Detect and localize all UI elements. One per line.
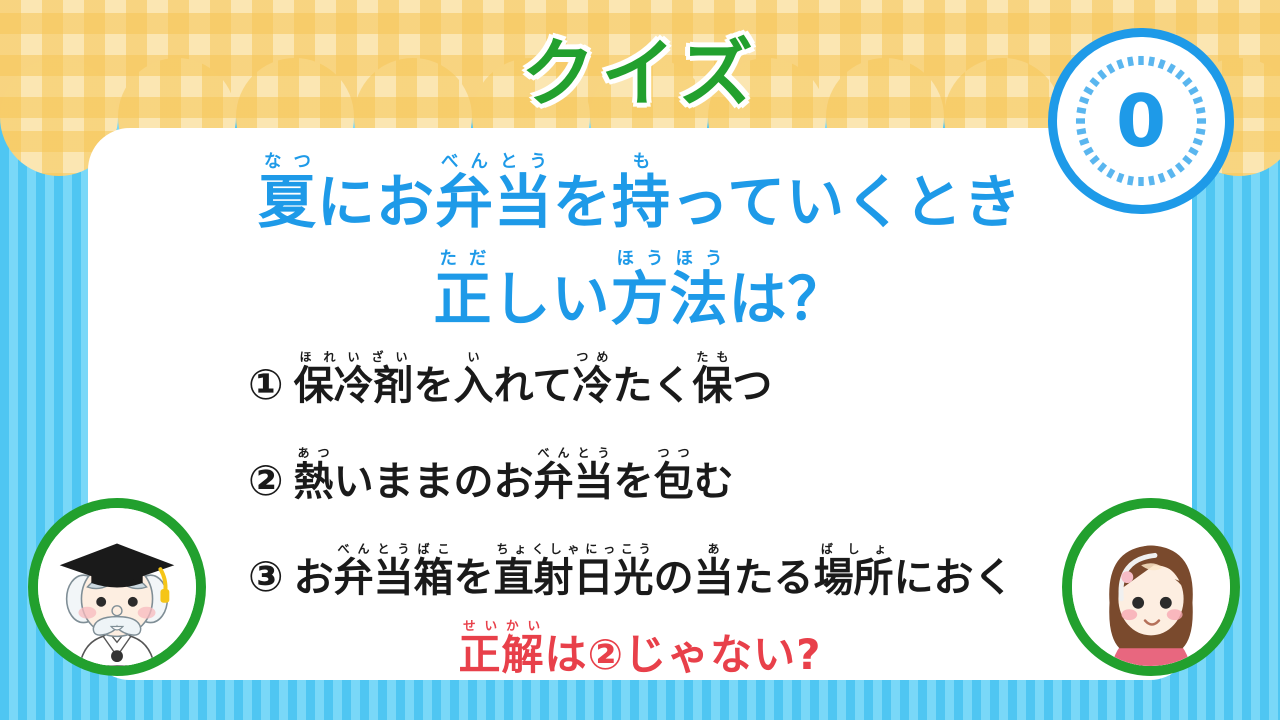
- ruby-segment: 冷つめ: [572, 363, 612, 409]
- professor-face-icon: [38, 508, 196, 666]
- option-number: ②: [248, 460, 284, 502]
- plain-segment: を: [614, 459, 654, 505]
- option-number: ③: [248, 556, 284, 598]
- plain-segment: っていくとき: [671, 168, 1022, 236]
- ruby-segment: 夏なつ: [258, 168, 317, 236]
- plain-segment: お: [376, 168, 435, 236]
- plain-segment: れて: [494, 363, 573, 409]
- plain-segment: つ: [732, 363, 772, 409]
- option-text: 保冷剤ほれいざいを入いれて冷つめたく保たもつ: [294, 350, 773, 406]
- quiz-slide: クイズ 0 夏なつにお弁当べんとうを持もっていくとき 正ただしい方法ほうほうは？…: [0, 0, 1280, 720]
- furigana: べんとう: [435, 152, 553, 172]
- plain-segment: お: [294, 555, 334, 601]
- question-line-1: 夏なつにお弁当べんとうを持もっていくとき: [88, 152, 1192, 231]
- furigana: なつ: [258, 152, 317, 172]
- answer-option-1[interactable]: ①保冷剤ほれいざいを入いれて冷つめたく保たもつ: [248, 350, 1128, 406]
- furigana: あつ: [294, 446, 334, 460]
- plain-segment: は？: [729, 265, 847, 333]
- furigana: せいかい: [459, 618, 545, 633]
- plain-segment: に: [317, 168, 376, 236]
- furigana: い: [454, 350, 494, 364]
- ruby-segment: 方法ほうほう: [611, 265, 729, 333]
- furigana: あ: [694, 542, 734, 556]
- furigana: つつ: [654, 446, 694, 460]
- furigana: つめ: [572, 350, 612, 364]
- plain-segment: たく: [612, 363, 692, 409]
- ruby-segment: 持も: [612, 168, 671, 236]
- option-number: ①: [248, 364, 284, 406]
- furigana: ただ: [433, 249, 492, 269]
- plain-segment: におく: [894, 555, 1014, 601]
- ruby-segment: 場所ばしょ: [814, 555, 894, 601]
- question-block: 夏なつにお弁当べんとうを持もっていくとき 正ただしい方法ほうほうは？: [88, 152, 1192, 346]
- timer-badge[interactable]: 0: [1048, 28, 1234, 214]
- ruby-segment: 当あ: [694, 555, 734, 601]
- ruby-segment: 正解せいかい: [459, 630, 545, 679]
- timer-value: 0: [1057, 37, 1225, 205]
- furigana: べんとうばこ: [334, 542, 454, 556]
- plain-segment: は②じゃない?: [545, 630, 822, 679]
- ruby-segment: 直射日光ちょくしゃにっこう: [494, 555, 654, 601]
- answer-option-2[interactable]: ②熱あついままのお弁当べんとうを包つつむ: [248, 446, 1128, 502]
- furigana: ばしょ: [814, 542, 894, 556]
- girl-face-icon: [1072, 508, 1230, 666]
- plain-segment: の: [654, 555, 694, 601]
- plain-segment: たる: [734, 555, 814, 601]
- ruby-segment: 保冷剤ほれいざい: [294, 363, 414, 409]
- option-text: お弁当箱べんとうばこを直射日光ちょくしゃにっこうの当あたる場所ばしょにおく: [294, 542, 1014, 598]
- furigana: たも: [692, 350, 732, 364]
- ruby-segment: 弁当べんとう: [435, 168, 553, 236]
- ruby-segment: 弁当べんとう: [534, 459, 614, 505]
- furigana: ちょくしゃにっこう: [494, 542, 654, 556]
- plain-segment: を: [414, 363, 454, 409]
- ruby-segment: 包つつ: [654, 459, 694, 505]
- answer-option-3[interactable]: ③お弁当箱べんとうばこを直射日光ちょくしゃにっこうの当あたる場所ばしょにおく: [248, 542, 1128, 598]
- plain-segment: む: [694, 459, 734, 505]
- ruby-segment: 正ただ: [433, 265, 492, 333]
- furigana: べんとう: [534, 446, 614, 460]
- answer-options-list: ①保冷剤ほれいざいを入いれて冷つめたく保たもつ②熱あついままのお弁当べんとうを包…: [248, 350, 1128, 638]
- furigana: ほうほう: [611, 249, 729, 269]
- question-line-2: 正ただしい方法ほうほうは？: [88, 249, 1192, 328]
- option-text: 熱あついままのお弁当べんとうを包つつむ: [294, 446, 734, 502]
- professor-avatar: [28, 498, 206, 676]
- ruby-segment: 入い: [454, 363, 494, 409]
- answer-guess-text: 正解せいかいは②じゃない?: [88, 618, 1192, 682]
- furigana: ほれいざい: [294, 350, 414, 364]
- furigana: も: [612, 152, 671, 172]
- plain-segment: いままのお: [334, 459, 534, 505]
- ruby-segment: 保たも: [692, 363, 732, 409]
- plain-segment: を: [553, 168, 612, 236]
- ruby-segment: 弁当箱べんとうばこ: [334, 555, 454, 601]
- plain-segment: を: [454, 555, 494, 601]
- girl-avatar: [1062, 498, 1240, 676]
- ruby-segment: 熱あつ: [294, 459, 334, 505]
- plain-segment: しい: [492, 265, 610, 333]
